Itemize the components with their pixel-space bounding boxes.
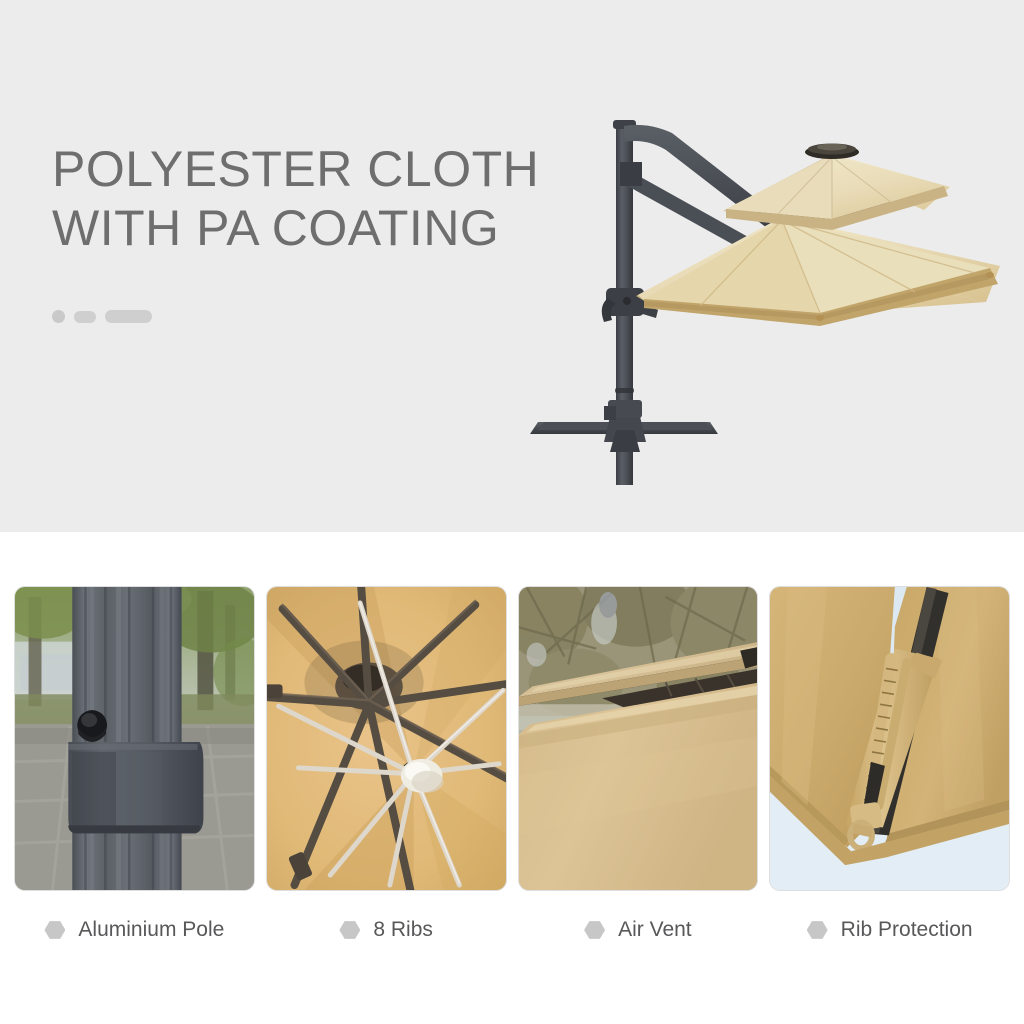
caption-air-vent: Air Vent xyxy=(518,918,759,942)
feature-caption-row: Aluminium Pole 8 Ribs Air Vent Rib Prote… xyxy=(14,918,1010,942)
product-infographic: POLYESTER CLOTH WITH PA COATING xyxy=(0,0,1024,1024)
feature-panel-rib-protection[interactable] xyxy=(769,586,1010,891)
features-section: Aluminium Pole 8 Ribs Air Vent Rib Prote… xyxy=(0,532,1024,1024)
decor-pill-large xyxy=(105,310,152,323)
caption-rib-protection: Rib Protection xyxy=(769,918,1010,942)
caption-label: Aluminium Pole xyxy=(78,918,224,942)
caption-aluminium-pole: Aluminium Pole xyxy=(14,918,255,942)
caption-label: Rib Protection xyxy=(841,918,973,942)
hexagon-bullet-icon xyxy=(584,921,605,940)
cantilever-patio-umbrella-image xyxy=(520,70,1020,490)
decor-pill-small xyxy=(74,311,96,323)
feature-panel-8-ribs[interactable] xyxy=(266,586,507,891)
hero-text-block: POLYESTER CLOTH WITH PA COATING xyxy=(52,140,592,257)
hexagon-bullet-icon xyxy=(339,921,360,940)
page-title: POLYESTER CLOTH WITH PA COATING xyxy=(52,140,592,257)
feature-panel-grid xyxy=(14,586,1010,891)
feature-panel-air-vent[interactable] xyxy=(518,586,759,891)
caption-label: 8 Ribs xyxy=(373,918,433,942)
caption-8-ribs: 8 Ribs xyxy=(266,918,507,942)
hexagon-bullet-icon xyxy=(44,921,65,940)
caption-label: Air Vent xyxy=(618,918,692,942)
feature-panel-aluminium-pole[interactable] xyxy=(14,586,255,891)
hero-section: POLYESTER CLOTH WITH PA COATING xyxy=(0,0,1024,532)
decor-indicator-group xyxy=(52,310,152,323)
decor-dot-circle xyxy=(52,310,65,323)
hexagon-bullet-icon xyxy=(807,921,828,940)
